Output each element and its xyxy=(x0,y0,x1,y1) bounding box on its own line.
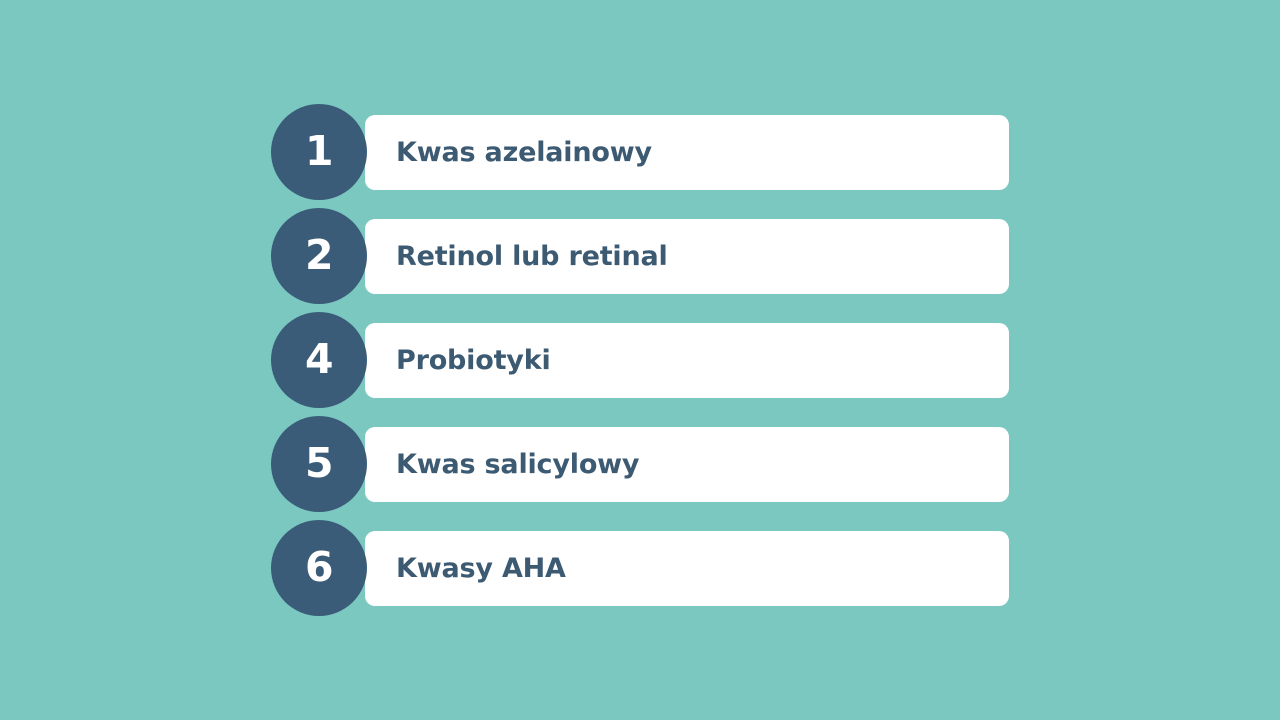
list-item-number: 2 xyxy=(305,235,333,276)
list-item-card[interactable]: Probiotyki xyxy=(365,323,1009,398)
list-item-label: Kwas salicylowy xyxy=(365,451,639,478)
list-item-label: Kwasy AHA xyxy=(365,555,566,582)
list-item-number-badge: 4 xyxy=(271,312,367,408)
list-item-number-badge: 2 xyxy=(271,208,367,304)
list-item-number: 1 xyxy=(305,131,333,172)
list-item-number-badge: 5 xyxy=(271,416,367,512)
list-item-label: Kwas azelainowy xyxy=(365,139,652,166)
list-item[interactable]: Kwasy AHA 6 xyxy=(271,520,1011,616)
list-item[interactable]: Kwas azelainowy 1 xyxy=(271,104,1011,200)
list-item-card[interactable]: Kwas salicylowy xyxy=(365,427,1009,502)
list-item-card[interactable]: Kwasy AHA xyxy=(365,531,1009,606)
slide-canvas: Kwas azelainowy 1 Retinol lub retinal 2 … xyxy=(0,0,1280,720)
list-item-number-badge: 6 xyxy=(271,520,367,616)
list-item-label: Retinol lub retinal xyxy=(365,243,668,270)
list-item-number: 5 xyxy=(305,443,333,484)
list-item-number-badge: 1 xyxy=(271,104,367,200)
list-item-number: 6 xyxy=(305,547,333,588)
list-item[interactable]: Probiotyki 4 xyxy=(271,312,1011,408)
list-item[interactable]: Retinol lub retinal 2 xyxy=(271,208,1011,304)
list-item[interactable]: Kwas salicylowy 5 xyxy=(271,416,1011,512)
list-item-card[interactable]: Retinol lub retinal xyxy=(365,219,1009,294)
list-item-number: 4 xyxy=(305,339,333,380)
list-item-label: Probiotyki xyxy=(365,347,551,374)
list-item-card[interactable]: Kwas azelainowy xyxy=(365,115,1009,190)
numbered-list: Kwas azelainowy 1 Retinol lub retinal 2 … xyxy=(271,104,1011,616)
